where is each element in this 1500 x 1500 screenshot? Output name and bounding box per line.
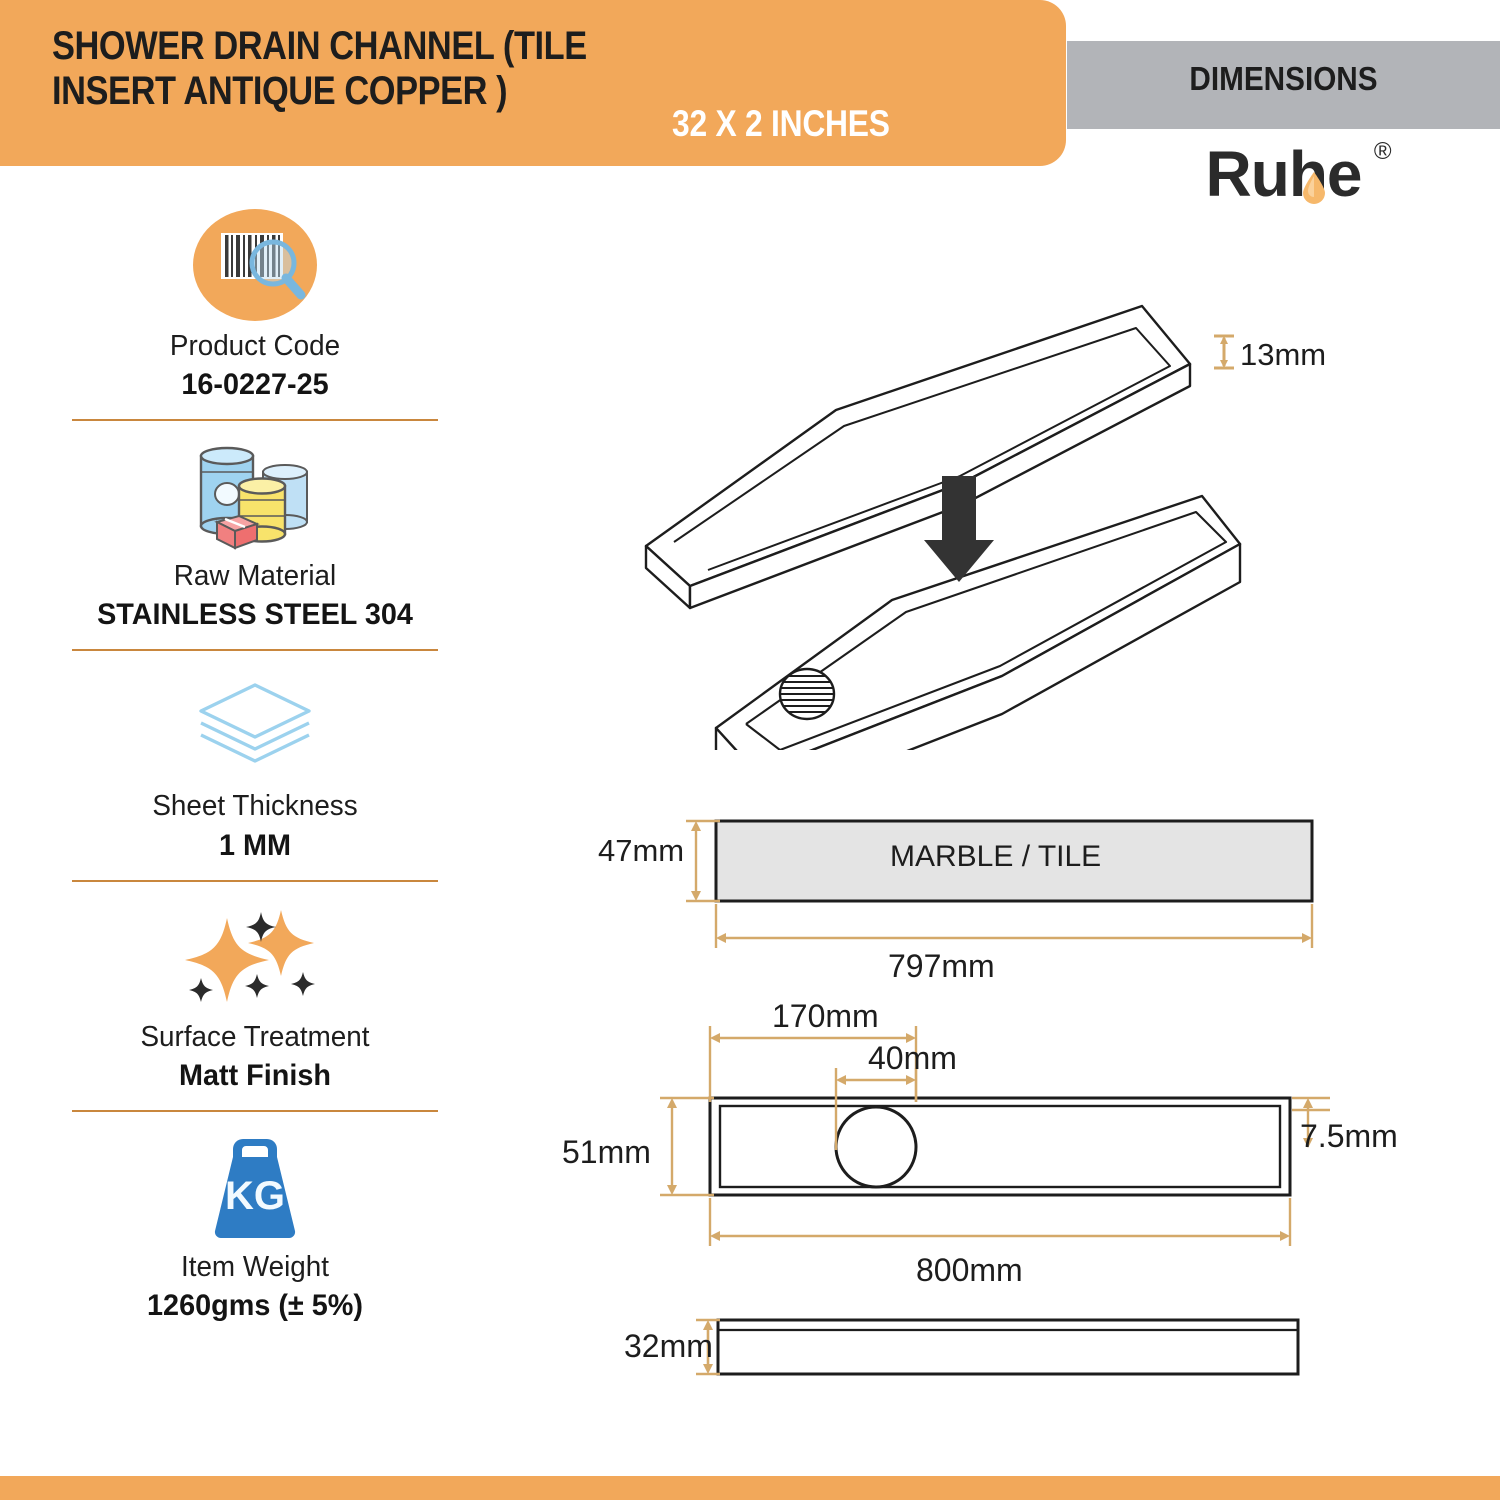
dim-13mm-label: 13mm <box>1240 337 1326 373</box>
spec-sheet-page: SHOWER DRAIN CHANNEL (TILE INSERT ANTIQU… <box>0 0 1500 1500</box>
spec-label: Sheet Thickness <box>68 789 442 823</box>
drain-hole-circle <box>836 1107 916 1187</box>
spec-label: Raw Material <box>68 559 442 593</box>
spec-item-sheet-thickness: Sheet Thickness 1 MM <box>60 665 450 863</box>
dim-47mm-label: 47mm <box>598 833 684 869</box>
spec-divider <box>72 880 438 882</box>
spec-divider <box>72 1110 438 1112</box>
dim-51mm-marker <box>660 1098 714 1195</box>
spec-value: 1 MM <box>68 828 442 864</box>
registered-trademark-icon: ® <box>1374 138 1392 166</box>
brand-logo: Ruhe ® <box>1067 142 1500 222</box>
weight-icon-unit-text: KG <box>225 1174 285 1218</box>
spec-item-surface-treatment: Surface Treatment Matt Finish <box>60 896 450 1094</box>
spec-value: STAINLESS STEEL 304 <box>68 597 442 633</box>
weight-kg-icon: KG <box>60 1126 450 1246</box>
dim-797mm-marker <box>716 904 1312 948</box>
marble-tile-length-label: 797mm <box>888 948 995 985</box>
dim-40mm-label: 40mm <box>868 1040 957 1077</box>
spec-label: Surface Treatment <box>68 1020 442 1054</box>
spec-divider <box>72 649 438 651</box>
spec-label: Product Code <box>68 329 442 363</box>
exploded-isometric-view <box>630 290 1250 750</box>
brand-logo-text: Ruhe <box>1206 138 1362 210</box>
dim-32mm-label: 32mm <box>624 1328 713 1365</box>
dim-170mm-label: 170mm <box>772 998 879 1035</box>
dim-13mm-marker <box>1214 336 1234 368</box>
dim-800mm-label: 800mm <box>916 1252 1023 1289</box>
spec-item-item-weight: KG Item Weight 1260gms (± 5%) <box>60 1126 450 1324</box>
barcode-scan-icon <box>60 205 450 325</box>
spec-value: Matt Finish <box>68 1058 442 1094</box>
footer-orange-bar <box>0 1476 1500 1500</box>
dim-51mm-label: 51mm <box>562 1134 651 1171</box>
spec-value: 16-0227-25 <box>68 367 442 403</box>
spec-divider <box>72 419 438 421</box>
channel-side-elevation <box>600 1300 1360 1410</box>
sheet-stack-icon <box>60 665 450 785</box>
specifications-list: Product Code 16-0227-25 <box>60 205 450 1324</box>
sparkle-icon <box>60 896 450 1016</box>
water-droplet-icon <box>1301 170 1327 204</box>
spec-item-raw-material: Raw Material STAINLESS STEEL 304 <box>60 435 450 633</box>
spec-label: Item Weight <box>68 1250 442 1284</box>
dim-7-5mm-label: 7.5mm <box>1300 1118 1398 1155</box>
product-size-label: 32 X 2 INCHES <box>672 103 999 145</box>
material-barrels-icon <box>60 435 450 555</box>
marble-tile-label: MARBLE / TILE <box>890 840 1101 874</box>
spec-value: 1260gms (± 5%) <box>68 1288 442 1324</box>
channel-plan-view <box>540 990 1420 1290</box>
spec-item-product-code: Product Code 16-0227-25 <box>60 205 450 403</box>
dimensions-heading: DIMENSIONS <box>1089 60 1479 98</box>
page-title: SHOWER DRAIN CHANNEL (TILE INSERT ANTIQU… <box>52 24 620 114</box>
dim-800mm-marker <box>710 1198 1290 1246</box>
